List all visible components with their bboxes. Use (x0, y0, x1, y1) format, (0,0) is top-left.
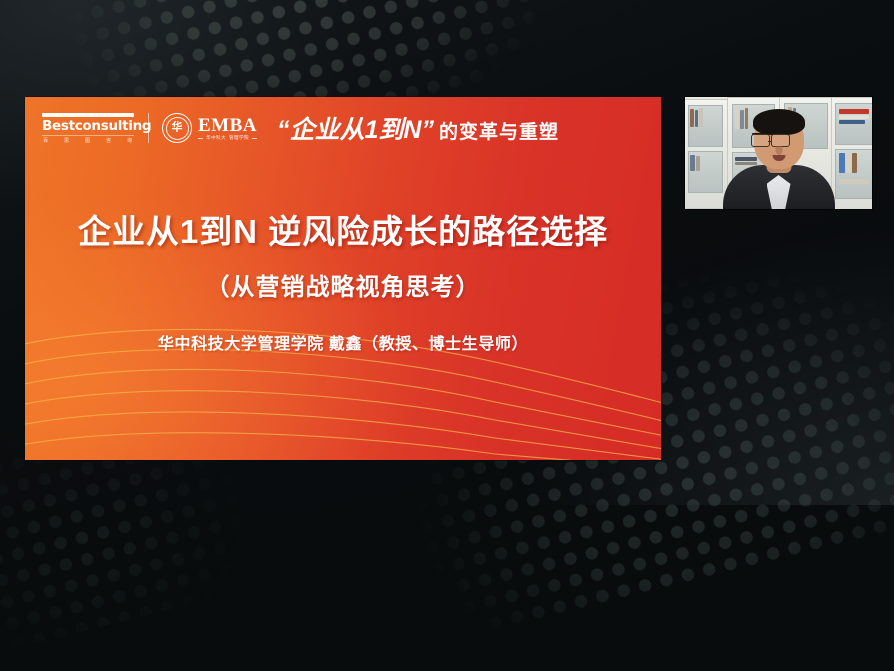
slide-subtitle: （从营销战略视角思考） (25, 267, 661, 302)
glasses-bridge (768, 141, 772, 142)
book (735, 109, 739, 129)
logo-sub-char-1: 思 (63, 137, 71, 144)
book (690, 155, 695, 171)
book (839, 109, 869, 114)
presentation-slide[interactable]: Bestconsulting 百 思 图 咨 询 华 EMBA 华中科大 管理学… (25, 97, 661, 460)
slide-header: Bestconsulting 百 思 图 咨 询 华 EMBA 华中科大 管理学… (25, 97, 661, 159)
logo-sub-char-3: 咨 (105, 137, 113, 144)
book (740, 110, 744, 129)
emba-cn-right: 管理学院 (229, 136, 249, 141)
slide-presenter-line: 华中科技大学管理学院 戴鑫（教授、博士生导师） (25, 330, 661, 354)
logo-sub-char-0: 百 (42, 137, 50, 144)
logo-sub-char-2: 图 (84, 137, 92, 144)
emba-rule-left (198, 138, 203, 139)
presenter-video-feed[interactable] (685, 97, 872, 209)
logo-top-bar (42, 113, 134, 117)
slide-series-headline: “企业从1到N” 的变革与重塑 (277, 110, 559, 146)
book (839, 120, 865, 124)
logo-divider (148, 113, 149, 143)
slide-main-title: 企业从1到N 逆风险成长的路径选择 (25, 205, 661, 253)
book (695, 110, 698, 127)
best-consulting-logo: Bestconsulting 百 思 图 咨 询 (42, 113, 134, 144)
book (839, 153, 845, 173)
book (690, 109, 694, 127)
emba-cn-left: 华中科大 (206, 136, 226, 141)
university-seal-icon: 华 (162, 113, 192, 143)
emba-logo: 华 EMBA 华中科大 管理学院 (162, 113, 257, 143)
emba-rule-right (252, 138, 257, 139)
headline-tail-text: 的变革与重塑 (439, 117, 559, 144)
emba-wordmark-group: EMBA 华中科大 管理学院 (198, 116, 257, 141)
book (699, 108, 703, 127)
presenter-nose (775, 146, 782, 155)
book (852, 153, 857, 173)
logo-sub-char-4: 询 (126, 137, 134, 144)
headline-quoted-text: “企业从1到N” (277, 110, 434, 146)
webcam-scene (685, 97, 872, 209)
book (839, 179, 869, 184)
presenter-figure (723, 133, 835, 209)
book (846, 154, 851, 173)
book (839, 115, 869, 119)
book (696, 156, 700, 171)
best-consulting-chinese-subtitle: 百 思 图 咨 询 (42, 135, 134, 144)
emba-chinese-subtitle: 华中科大 管理学院 (198, 136, 257, 141)
emba-wordmark: EMBA (198, 116, 257, 135)
presenter-hair (753, 109, 805, 135)
book (745, 108, 748, 129)
best-consulting-wordmark: Bestconsulting (42, 119, 134, 133)
seal-glyph: 华 (172, 122, 183, 133)
